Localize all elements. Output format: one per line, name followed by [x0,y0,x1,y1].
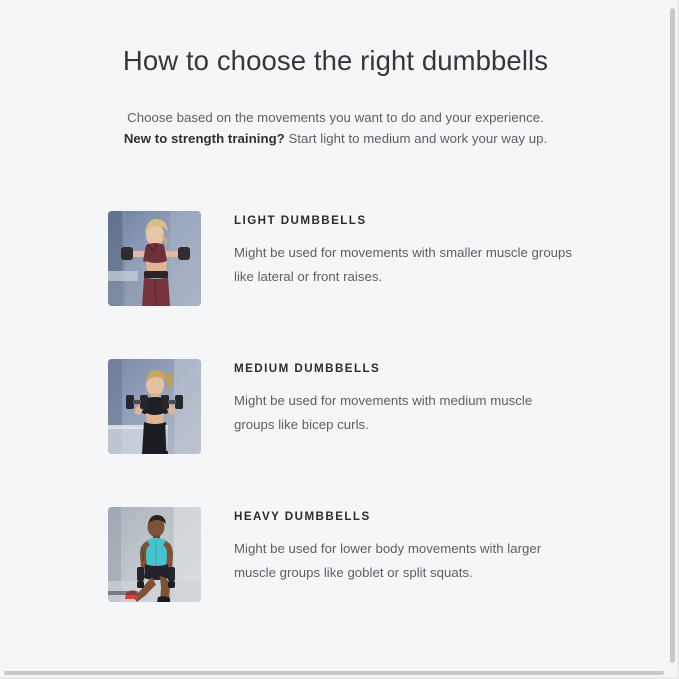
page-title: How to choose the right dumbbells [0,44,671,78]
vertical-scrollbar-thumb[interactable] [670,8,675,663]
subtitle-rest-text: Start light to medium and work your way … [285,131,547,146]
page-subtitle: Choose based on the movements you want t… [0,108,671,149]
woman-bicep-curl-icon [108,359,201,454]
subtitle-line-1: Choose based on the movements you want t… [0,108,671,128]
item-title: MEDIUM DUMBBELLS [234,362,574,376]
item-text-block: MEDIUM DUMBBELLS Might be used for movem… [201,359,574,437]
item-title: LIGHT DUMBBELLS [234,214,574,228]
horizontal-scrollbar[interactable] [0,669,671,677]
subtitle-line-2: New to strength training? Start light to… [0,129,671,149]
page-root: How to choose the right dumbbells Choose… [0,0,671,671]
item-description: Might be used for movements with medium … [234,389,574,437]
item-description: Might be used for movements with smaller… [234,241,574,289]
dumbbell-guide-list: LIGHT DUMBBELLS Might be used for moveme… [0,211,671,602]
list-item: LIGHT DUMBBELLS Might be used for moveme… [108,211,611,306]
heavy-dumbbells-thumbnail [108,507,201,602]
subtitle-strong-text: New to strength training? [124,131,285,146]
item-title: HEAVY DUMBBELLS [234,510,574,524]
list-item: MEDIUM DUMBBELLS Might be used for movem… [108,359,611,454]
list-item: HEAVY DUMBBELLS Might be used for lower … [108,507,611,602]
item-description: Might be used for lower body movements w… [234,537,574,585]
horizontal-scrollbar-thumb[interactable] [4,671,664,675]
item-text-block: HEAVY DUMBBELLS Might be used for lower … [201,507,574,585]
medium-dumbbells-thumbnail [108,359,201,454]
man-split-squat-icon [108,507,201,602]
page-header: How to choose the right dumbbells Choose… [0,0,671,149]
vertical-scrollbar[interactable] [668,0,677,671]
light-dumbbells-thumbnail [108,211,201,306]
woman-lateral-raise-icon [108,211,201,306]
item-text-block: LIGHT DUMBBELLS Might be used for moveme… [201,211,574,289]
